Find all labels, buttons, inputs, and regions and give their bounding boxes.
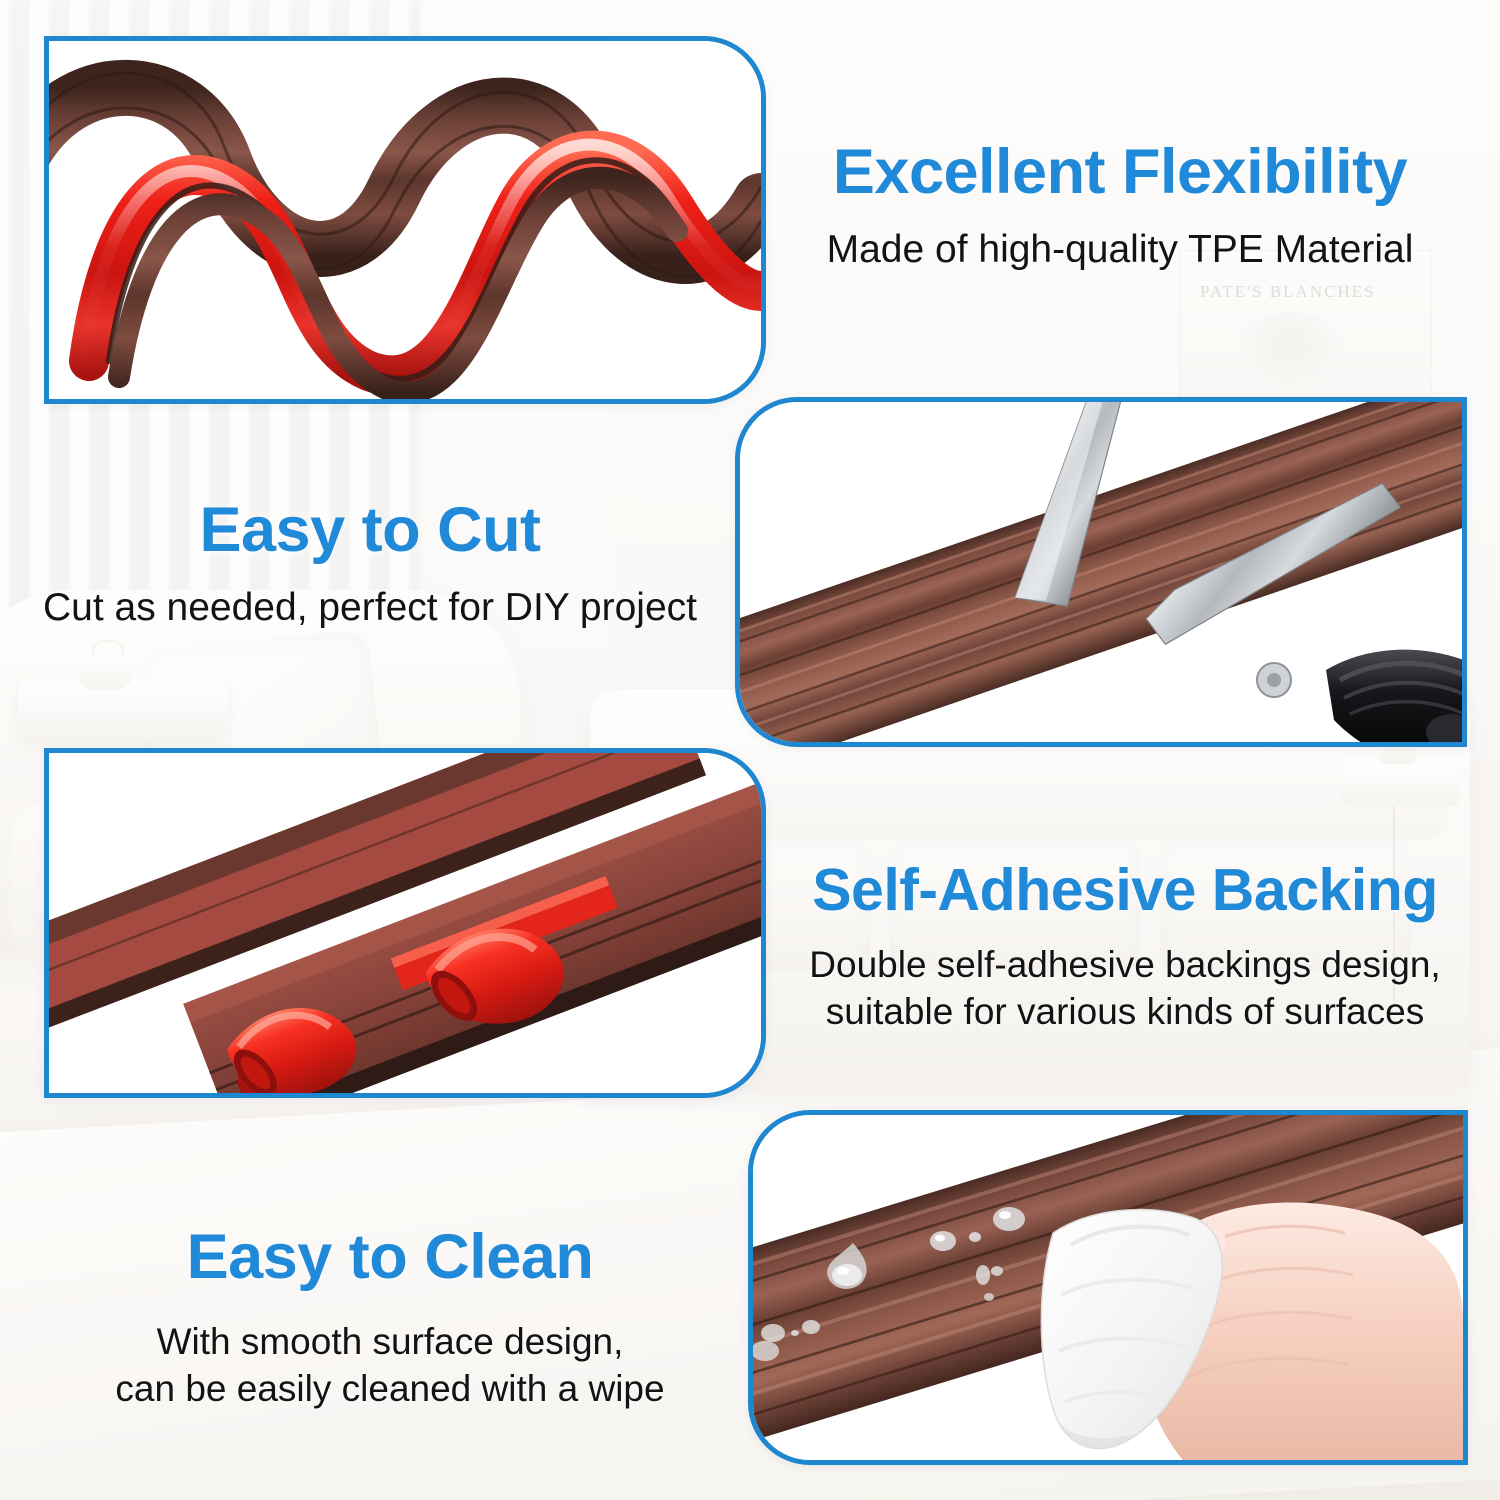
feature-image-self-adhesive: [44, 748, 766, 1098]
infographic-canvas: PATE'S BLANCHES: [0, 0, 1500, 1500]
subtext-self-adhesive-line-1: Double self-adhesive backings design,: [770, 942, 1480, 987]
heading-easy-to-clean: Easy to Clean: [40, 1225, 740, 1289]
adhesive-backing-photo: [49, 753, 761, 1093]
coiled-strip-illustration: [49, 41, 761, 399]
heading-flexibility: Excellent Flexibility: [760, 140, 1480, 204]
feature-image-easy-to-cut: [735, 397, 1467, 747]
subtext-easy-to-cut: Cut as needed, perfect for DIY project: [20, 584, 720, 632]
subtext-easy-to-clean-line-2: can be easily cleaned with a wipe: [40, 1366, 740, 1411]
heading-self-adhesive: Self-Adhesive Backing: [770, 860, 1480, 920]
subtext-flexibility: Made of high-quality TPE Material: [760, 226, 1480, 274]
text-block-easy-to-cut: Easy to Cut Cut as needed, perfect for D…: [20, 498, 720, 632]
feature-image-flexibility: [44, 36, 766, 404]
subtext-easy-to-clean-line-1: With smooth surface design,: [40, 1319, 740, 1364]
adhesive-liner-illustration: [49, 753, 761, 1093]
text-block-easy-to-clean: Easy to Clean With smooth surface design…: [40, 1225, 740, 1412]
wiping-photo: [753, 1115, 1463, 1460]
text-block-flexibility: Excellent Flexibility Made of high-quali…: [760, 140, 1480, 274]
scissors-cutting-photo: [740, 402, 1462, 742]
wipe-clean-illustration: [753, 1115, 1463, 1460]
flexibility-photo: [49, 41, 761, 399]
heading-easy-to-cut: Easy to Cut: [20, 498, 720, 562]
scissors-cut-illustration: [740, 402, 1462, 742]
text-block-self-adhesive: Self-Adhesive Backing Double self-adhesi…: [770, 860, 1480, 1034]
feature-image-easy-to-clean: [748, 1110, 1468, 1465]
subtext-self-adhesive-line-2: suitable for various kinds of surfaces: [770, 989, 1480, 1034]
